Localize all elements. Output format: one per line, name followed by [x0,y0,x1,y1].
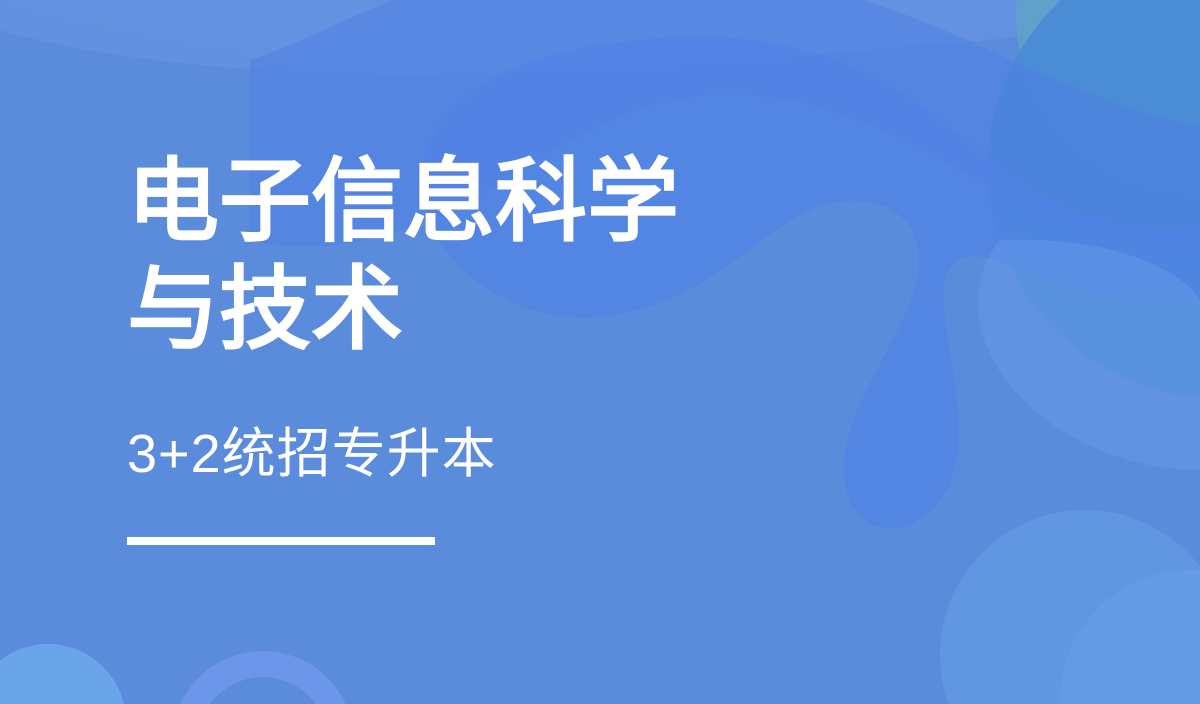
banner-content: 电子信息科学 与技术 3+2统招专升本 [0,0,1200,704]
page-title: 电子信息科学 与技术 [127,148,679,364]
title-line-1: 电子信息科学 [127,148,679,256]
title-line-2: 与技术 [127,256,679,364]
subtitle: 3+2统招专升本 [127,418,497,490]
title-divider-rule [127,537,435,545]
program-cover-banner: 电子信息科学 与技术 3+2统招专升本 [0,0,1200,704]
